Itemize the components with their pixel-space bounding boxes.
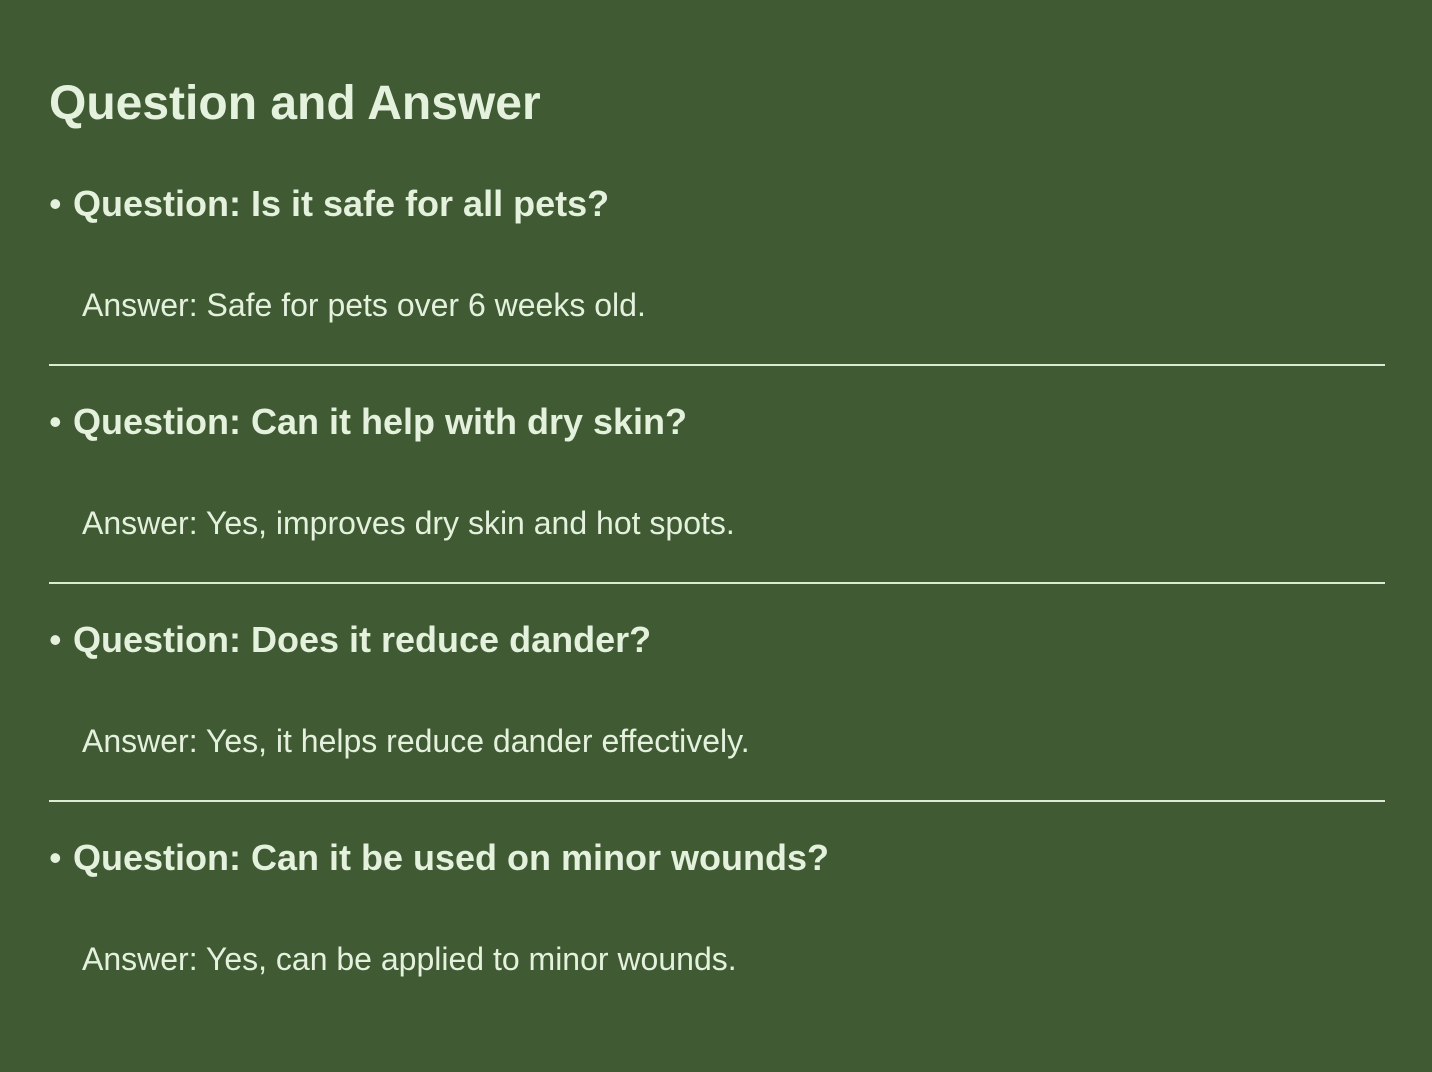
qa-question-row: • Question: Can it help with dry skin?: [49, 400, 687, 444]
qa-divider: [49, 582, 1385, 584]
qa-divider: [49, 800, 1385, 802]
qa-answer-text: Answer: Yes, it helps reduce dander effe…: [82, 722, 750, 760]
qa-answer-text: Answer: Safe for pets over 6 weeks old.: [82, 286, 646, 324]
qa-item: • Question: Does it reduce dander? Answe…: [0, 592, 1432, 810]
qa-question-text: Question: Does it reduce dander?: [73, 618, 651, 662]
qa-question-text: Question: Can it be used on minor wounds…: [73, 836, 829, 880]
bullet-icon: •: [49, 618, 73, 662]
qa-page: Question and Answer • Question: Is it sa…: [0, 0, 1432, 1072]
qa-question-text: Question: Can it help with dry skin?: [73, 400, 687, 444]
qa-item: • Question: Can it be used on minor woun…: [0, 810, 1432, 1028]
qa-divider: [49, 364, 1385, 366]
qa-question-row: • Question: Can it be used on minor woun…: [49, 836, 829, 880]
qa-list: • Question: Is it safe for all pets? Ans…: [0, 156, 1432, 1028]
qa-question-text: Question: Is it safe for all pets?: [73, 182, 609, 226]
qa-answer-text: Answer: Yes, can be applied to minor wou…: [82, 940, 737, 978]
qa-question-row: • Question: Is it safe for all pets?: [49, 182, 609, 226]
qa-question-row: • Question: Does it reduce dander?: [49, 618, 651, 662]
qa-item: • Question: Can it help with dry skin? A…: [0, 374, 1432, 592]
bullet-icon: •: [49, 836, 73, 880]
bullet-icon: •: [49, 400, 73, 444]
bullet-icon: •: [49, 182, 73, 226]
page-title: Question and Answer: [49, 76, 541, 133]
qa-answer-text: Answer: Yes, improves dry skin and hot s…: [82, 504, 735, 542]
qa-item: • Question: Is it safe for all pets? Ans…: [0, 156, 1432, 374]
